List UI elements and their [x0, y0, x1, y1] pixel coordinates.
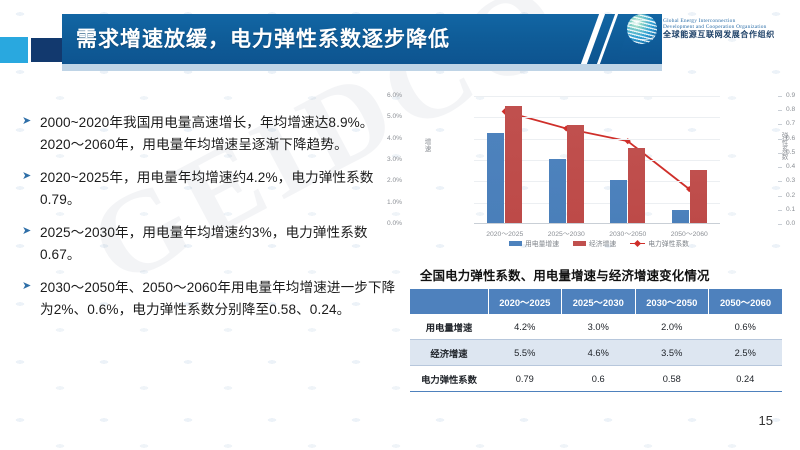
column-header: 2025～2030 — [562, 289, 636, 314]
bullet-text: 2025～2030年，用电量年均增速约3%，电力弹性系数0.67。 — [40, 222, 404, 266]
legend-item[interactable]: 经济增速 — [573, 238, 616, 248]
logo-text-block: Global Energy Interconnection Developmen… — [663, 18, 775, 40]
chart-x-tick: 2025～2030 — [535, 228, 597, 238]
bullet-arrow-icon: ➤ — [22, 226, 36, 237]
chart-bar — [505, 106, 522, 223]
legend-item[interactable]: 用电量增速 — [509, 238, 559, 248]
organization-logo: Global Energy Interconnection Developmen… — [627, 14, 775, 44]
table-cell: 2.5% — [709, 340, 783, 366]
chart-x-tick: 2050～2060 — [658, 228, 720, 238]
table-cell: 3.5% — [635, 340, 709, 366]
chart-y-tick-right: 0.2 — [786, 192, 800, 199]
chart-gridline — [474, 96, 720, 97]
header-title-band: 需求增速放缓，电力弹性系数逐步降低 — [62, 14, 662, 64]
legend-item[interactable]: 电力弹性系数 — [630, 238, 689, 248]
chart-bar — [628, 148, 645, 223]
bullet-text: 2030～2050年、2050～2060年用电量年均增速进一步下降为2%、0.6… — [40, 277, 404, 321]
chart-x-tick: 2020～2025 — [474, 228, 536, 238]
chart-y-tick-right: 0.6 — [786, 135, 800, 142]
column-header: 2050～2060 — [709, 289, 783, 314]
table-cell: 4.6% — [562, 340, 636, 366]
logo-chinese-name: 全球能源互联网发展合作组织 — [663, 31, 775, 40]
chart-y-tick-right: 0.3 — [786, 177, 800, 184]
chart-bar — [690, 170, 707, 223]
bullet-list: ➤ 2000~2020年我国用电量高速增长，年均增速达8.9%。2020～206… — [22, 112, 404, 332]
table-cell: 0.58 — [635, 366, 709, 392]
table-cell: 5.5% — [488, 340, 562, 366]
chart-y-tick-left: 6.0% — [368, 92, 402, 99]
chart-tick-mark — [778, 96, 782, 97]
header-accent-square-cyan — [0, 37, 28, 63]
chart-y-tick-left: 1.0% — [368, 199, 402, 206]
chart-y-tick-left: 0.0% — [368, 220, 402, 227]
legend-swatch-icon — [509, 241, 522, 246]
table-cell: 0.6% — [709, 314, 783, 340]
bullet-arrow-icon: ➤ — [22, 116, 36, 127]
list-item: ➤ 2025～2030年，用电量年均增速约3%，电力弹性系数0.67。 — [22, 222, 404, 266]
legend-label: 经济增速 — [589, 238, 616, 248]
chart-bar — [567, 125, 584, 223]
chart-y-axis-left-title: 增速 — [421, 138, 431, 152]
column-header: 2030～2050 — [635, 289, 709, 314]
chart-y-tick-left: 3.0% — [368, 156, 402, 163]
chart-y-tick-right: 0.8 — [786, 106, 800, 113]
table-cell: 2.0% — [635, 314, 709, 340]
table-cell: 3.0% — [562, 314, 636, 340]
legend-label: 电力弹性系数 — [648, 238, 689, 248]
table-title: 全国电力弹性系数、用电量增速与经济增速变化情况 — [420, 266, 788, 284]
bullet-text: 2000~2020年我国用电量高速增长，年均增速达8.9%。2020～2060年… — [40, 112, 404, 156]
row-header: 经济增速 — [410, 340, 488, 366]
table-row: 用电量增速 4.2% 3.0% 2.0% 0.6% — [410, 314, 782, 340]
chart-y-tick-left: 5.0% — [368, 113, 402, 120]
row-header: 用电量增速 — [410, 314, 488, 340]
list-item: ➤ 2030～2050年、2050～2060年用电量年均增速进一步下降为2%、0… — [22, 277, 404, 321]
chart-tick-mark — [778, 139, 782, 140]
table-row: 经济增速 5.5% 4.6% 3.5% 2.5% — [410, 340, 782, 366]
chart-bar — [487, 133, 504, 223]
legend-swatch-icon — [573, 241, 586, 246]
data-table-block: 全国电力弹性系数、用电量增速与经济增速变化情况 2020～2025 2025～2… — [410, 266, 788, 392]
chart-x-tick: 2030～2050 — [597, 228, 659, 238]
list-item: ➤ 2020~2025年，用电量年均增速约4.2%，电力弹性系数0.79。 — [22, 167, 404, 211]
chart-y-tick-right: 0.4 — [786, 163, 800, 170]
table-row: 电力弹性系数 0.79 0.6 0.58 0.24 — [410, 366, 782, 392]
page-number: 15 — [759, 413, 773, 428]
chart-y-tick-right: 0.9 — [786, 92, 800, 99]
table-cell: 4.2% — [488, 314, 562, 340]
chart-tick-mark — [778, 224, 782, 225]
globe-icon — [627, 14, 657, 44]
chart-legend: 用电量增速经济增速电力弹性系数 — [474, 238, 724, 248]
chart-tick-mark — [778, 210, 782, 211]
chart-y-tick-left: 4.0% — [368, 135, 402, 142]
header-underline-bar — [62, 64, 662, 71]
chart-bar — [549, 159, 566, 223]
chart-y-tick-right: 0.5 — [786, 149, 800, 156]
chart-plot-area: 0.0%1.0%2.0%3.0%4.0%5.0%6.0%0.00.10.20.3… — [474, 96, 720, 224]
legend-line-icon — [630, 241, 645, 246]
column-header: 2020～2025 — [488, 289, 562, 314]
table-body: 用电量增速 4.2% 3.0% 2.0% 0.6% 经济增速 5.5% 4.6%… — [410, 314, 782, 392]
table-cell: 0.79 — [488, 366, 562, 392]
chart-y-tick-right: 0.0 — [786, 220, 800, 227]
page-title: 需求增速放缓，电力弹性系数逐步降低 — [76, 23, 450, 53]
list-item: ➤ 2000~2020年我国用电量高速增长，年均增速达8.9%。2020～206… — [22, 112, 404, 156]
slide-canvas: GEIDCO 需求增速放缓，电力弹性系数逐步降低 Global Energy I… — [0, 0, 800, 450]
chart-tick-mark — [778, 167, 782, 168]
chart-y-tick-right: 0.7 — [786, 120, 800, 127]
legend-label: 用电量增速 — [525, 238, 559, 248]
chart-tick-mark — [778, 153, 782, 154]
chart-y-tick-left: 2.0% — [368, 177, 402, 184]
chart-tick-mark — [778, 181, 782, 182]
chart-tick-mark — [778, 196, 782, 197]
chart-bar — [610, 180, 627, 223]
table-header-row: 2020～2025 2025～2030 2030～2050 2050～2060 — [410, 289, 782, 314]
table-head: 2020～2025 2025～2030 2030～2050 2050～2060 — [410, 289, 782, 314]
row-header: 电力弹性系数 — [410, 366, 488, 392]
combo-chart: 增速 弹性系数 0.0%1.0%2.0%3.0%4.0%5.0%6.0%0.00… — [418, 88, 790, 256]
chart-tick-mark — [778, 110, 782, 111]
table-cell: 0.24 — [709, 366, 783, 392]
chart-tick-mark — [778, 124, 782, 125]
table-corner-cell — [410, 289, 488, 314]
bullet-arrow-icon: ➤ — [22, 281, 36, 292]
table-cell: 0.6 — [562, 366, 636, 392]
chart-y-tick-right: 0.1 — [786, 206, 800, 213]
bullet-arrow-icon: ➤ — [22, 171, 36, 182]
data-table: 2020～2025 2025～2030 2030～2050 2050～2060 … — [410, 289, 782, 392]
chart-bar — [672, 210, 689, 223]
bullet-text: 2020~2025年，用电量年均增速约4.2%，电力弹性系数0.79。 — [40, 167, 404, 211]
